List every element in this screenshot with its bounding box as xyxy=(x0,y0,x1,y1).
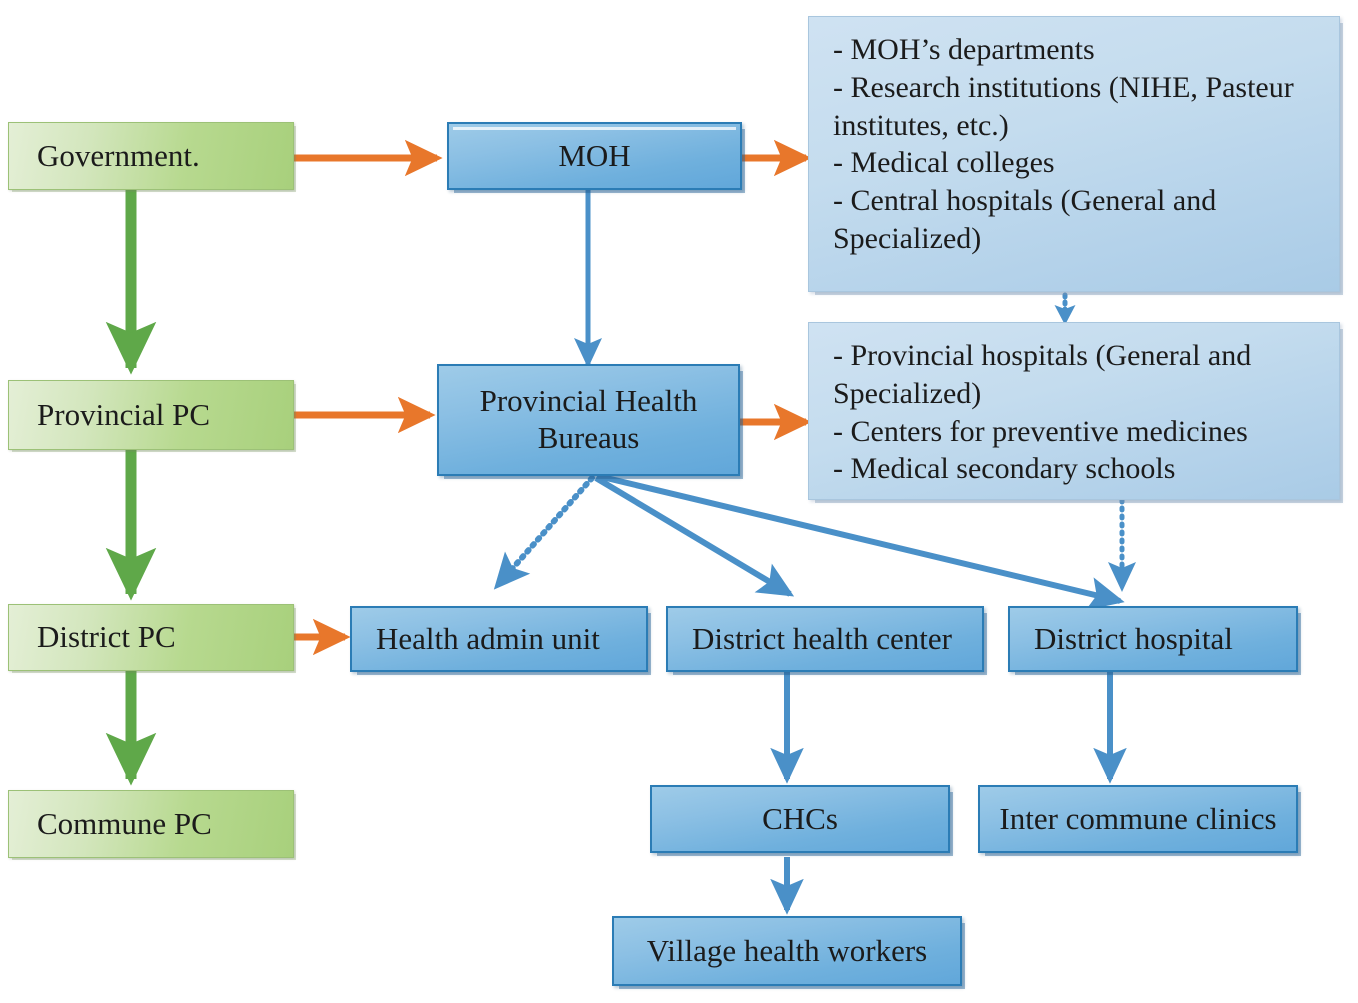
node-commune-pc-label: Commune PC xyxy=(37,806,212,843)
panel-provincial-institutions-item: - Centers for preventive medicines xyxy=(833,413,1321,451)
node-moh-label: MOH xyxy=(558,138,630,175)
node-inter-commune-clinics[interactable]: Inter commune clinics xyxy=(978,785,1298,853)
diagram-canvas: Government. Provincial PC District PC Co… xyxy=(0,0,1358,1003)
panel-central-institutions-item: - MOH’s departments xyxy=(833,31,1321,69)
node-district-hospital[interactable]: District hospital xyxy=(1008,606,1298,672)
connector-phb-to-health-admin-unit xyxy=(497,478,592,586)
node-chcs[interactable]: CHCs xyxy=(650,785,950,853)
node-provincial-pc[interactable]: Provincial PC xyxy=(8,380,294,450)
node-inter-commune-clinics-label: Inter commune clinics xyxy=(999,801,1276,838)
node-district-health-center[interactable]: District health center xyxy=(666,606,984,672)
node-moh[interactable]: MOH xyxy=(447,122,742,190)
node-chcs-label: CHCs xyxy=(762,801,838,838)
node-government-label: Government. xyxy=(37,138,200,175)
panel-central-institutions-item: - Central hospitals (General and Special… xyxy=(833,182,1321,258)
node-provincial-health-bureaus[interactable]: Provincial Health Bureaus xyxy=(437,364,740,476)
panel-central-institutions-item: - Medical colleges xyxy=(833,144,1321,182)
panel-provincial-institutions-item: - Provincial hospitals (General and Spec… xyxy=(833,337,1321,413)
node-health-admin-unit[interactable]: Health admin unit xyxy=(350,606,648,672)
node-provincial-health-bureaus-label-line1: Provincial Health xyxy=(480,383,698,420)
node-provincial-health-bureaus-label-line2: Bureaus xyxy=(538,420,640,457)
node-district-pc[interactable]: District PC xyxy=(8,604,294,671)
node-commune-pc[interactable]: Commune PC xyxy=(8,790,294,858)
node-health-admin-unit-label: Health admin unit xyxy=(376,621,600,658)
node-government[interactable]: Government. xyxy=(8,122,294,190)
node-district-health-center-label: District health center xyxy=(692,621,952,658)
node-district-pc-label: District PC xyxy=(37,619,176,656)
connector-phb-to-district-health-center xyxy=(596,478,790,594)
panel-central-institutions: - MOH’s departments - Research instituti… xyxy=(808,16,1340,292)
panel-central-institutions-item: - Research institutions (NIHE, Pasteur i… xyxy=(833,69,1321,145)
node-village-health-workers-label: Village health workers xyxy=(647,933,927,970)
panel-provincial-institutions-item: - Medical secondary schools xyxy=(833,450,1321,488)
panel-provincial-institutions: - Provincial hospitals (General and Spec… xyxy=(808,322,1340,500)
node-provincial-pc-label: Provincial PC xyxy=(37,397,210,434)
node-village-health-workers[interactable]: Village health workers xyxy=(612,916,962,986)
node-district-hospital-label: District hospital xyxy=(1034,621,1233,658)
